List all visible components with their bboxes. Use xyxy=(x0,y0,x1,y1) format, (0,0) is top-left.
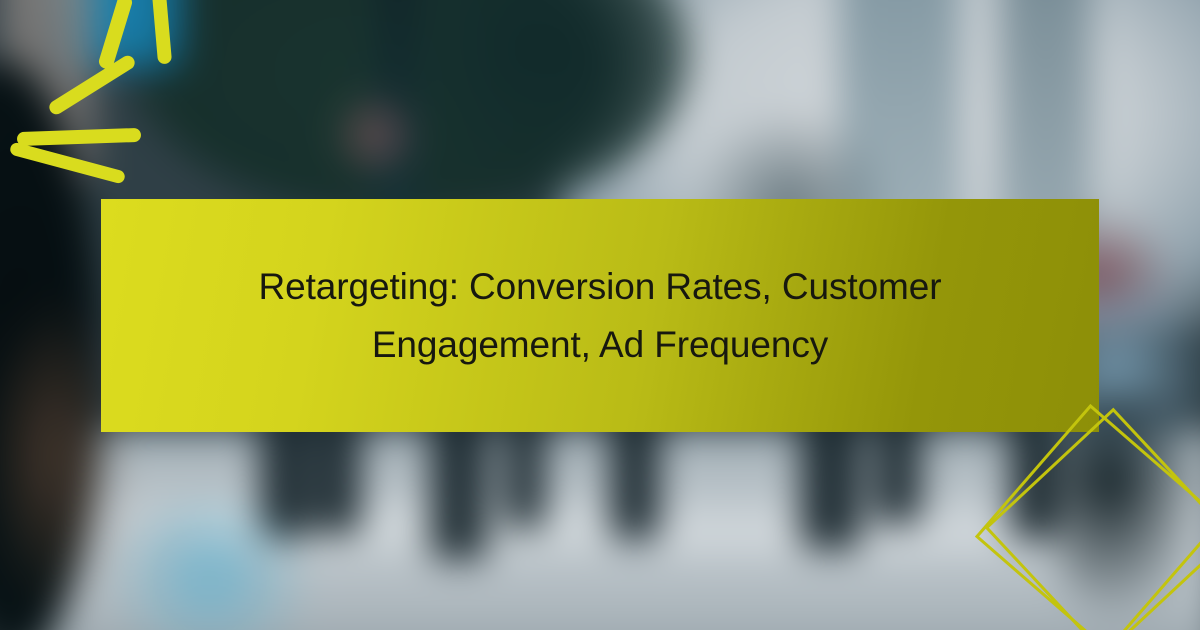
photo-color-accent xyxy=(330,90,420,180)
page-title: Retargeting: Conversion Rates, Customer … xyxy=(220,258,980,374)
share-card: Retargeting: Conversion Rates, Customer … xyxy=(0,0,1200,630)
title-banner: Retargeting: Conversion Rates, Customer … xyxy=(101,199,1099,432)
